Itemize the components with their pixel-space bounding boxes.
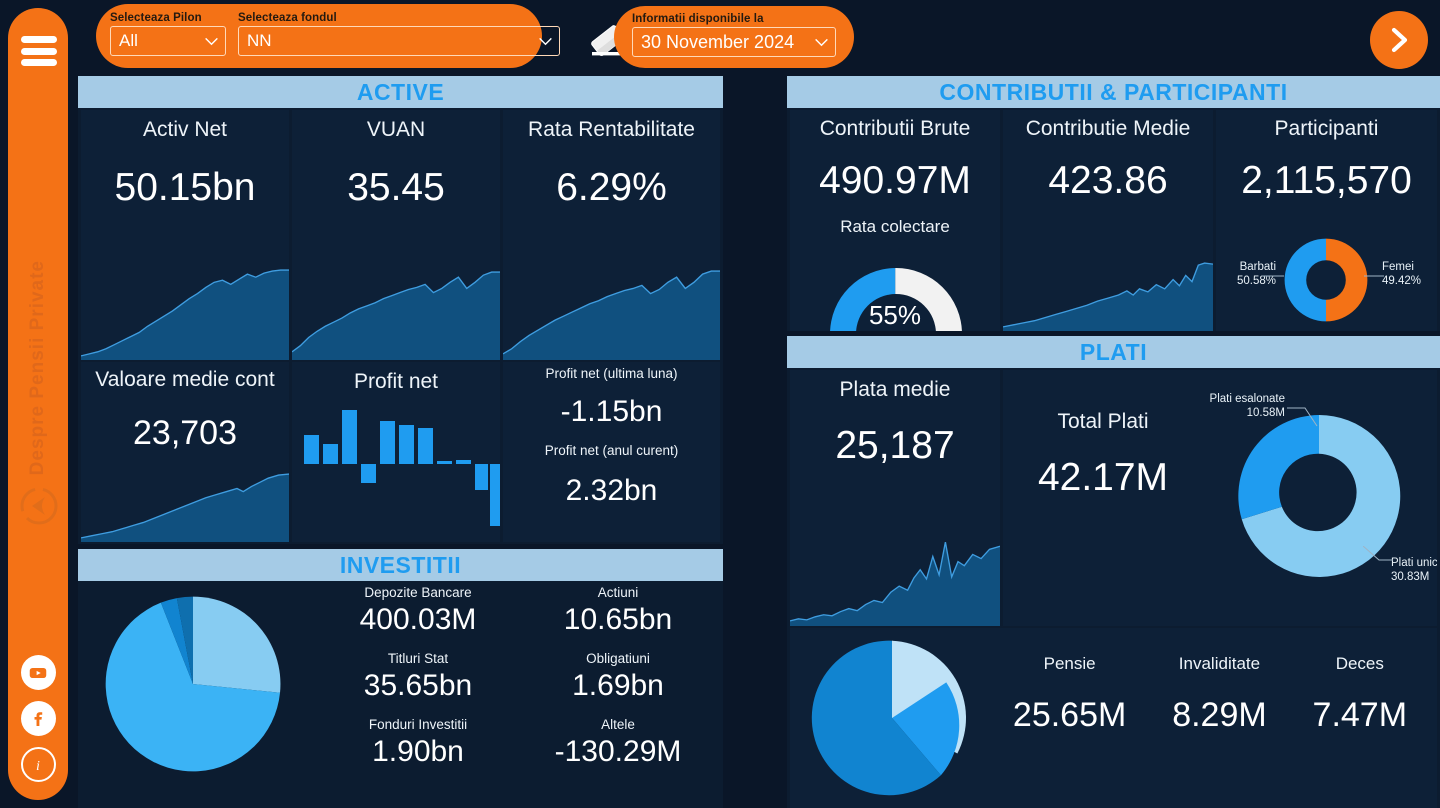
sidebar-social-links: i bbox=[8, 655, 68, 782]
plati-categorie-item[interactable]: Pensie 25.65M bbox=[1013, 654, 1126, 735]
card-valoare-medie-cont[interactable]: Valoare medie cont 23,703 bbox=[81, 362, 289, 542]
item-value: 35.65bn bbox=[318, 669, 518, 703]
profit-net-bars bbox=[292, 402, 500, 542]
item-title: Pensie bbox=[1013, 654, 1126, 674]
item-value: 8.29M bbox=[1172, 696, 1267, 735]
plati-categorii-pie bbox=[808, 632, 976, 804]
hamburger-icon[interactable] bbox=[21, 36, 57, 66]
fond-value: NN bbox=[247, 31, 538, 51]
card-contributii-brute[interactable]: Contributii Brute 490.97M Rata colectare… bbox=[790, 110, 1000, 331]
leader-line bbox=[1364, 273, 1384, 279]
info-icon[interactable]: i bbox=[21, 747, 56, 782]
panel-plati-body: Plata medie 25,187 Total Plati 42.17M Pl… bbox=[787, 368, 1440, 808]
card-vuan[interactable]: VUAN 35.45 bbox=[292, 110, 500, 360]
esalonate-label: Plati esalonate bbox=[1185, 392, 1285, 406]
investitii-item[interactable]: Altele -130.29M bbox=[518, 717, 718, 769]
investitii-values-grid: Depozite Bancare 400.03M Actiuni 10.65bn… bbox=[318, 585, 718, 769]
card-participanti[interactable]: Participanti 2,115,570 Barbati 50.58% Fe… bbox=[1216, 110, 1437, 331]
facebook-icon[interactable] bbox=[21, 701, 56, 736]
chevron-down-icon bbox=[814, 38, 829, 47]
panel-contributii: CONTRIBUTII & PARTICIPANTI Contributii B… bbox=[787, 76, 1440, 331]
female-label: Femei bbox=[1382, 260, 1421, 274]
date-value: 30 November 2024 bbox=[641, 32, 814, 53]
filter-bar-date: Informatii disponibile la 30 November 20… bbox=[614, 6, 854, 68]
panel-active-header: ACTIVE bbox=[78, 76, 723, 108]
panel-investitii: INVESTITII Depozite Bancare 400.03M Acti… bbox=[78, 549, 723, 808]
youtube-icon[interactable] bbox=[21, 655, 56, 690]
hamburger-line bbox=[21, 36, 57, 43]
plati-categorie-item[interactable]: Invaliditate 8.29M bbox=[1172, 654, 1267, 735]
gauge-value: 55% bbox=[790, 300, 1000, 331]
rata-rentabilitate-sparkline bbox=[503, 268, 720, 360]
card-plata-medie[interactable]: Plata medie 25,187 bbox=[790, 370, 1000, 626]
plati-esalonate-label: Plati esalonate 10.58M bbox=[1185, 392, 1285, 420]
item-value: 1.69bn bbox=[518, 669, 718, 703]
card-title: Profit net (ultima luna) bbox=[503, 366, 720, 381]
contributie-medie-sparkline bbox=[1003, 259, 1213, 331]
panel-contributii-title: CONTRIBUTII & PARTICIPANTI bbox=[939, 79, 1287, 106]
investitii-item[interactable]: Obligatiuni 1.69bn bbox=[518, 651, 718, 703]
card-value: -1.15bn bbox=[503, 395, 720, 429]
card-profit-net-detalii[interactable]: Profit net (ultima luna) -1.15bn Profit … bbox=[503, 362, 720, 542]
male-label: Barbati bbox=[1218, 260, 1276, 274]
panel-investitii-title: INVESTITII bbox=[340, 552, 461, 579]
panel-plati-header: PLATI bbox=[787, 336, 1440, 368]
svg-text:i: i bbox=[36, 758, 40, 774]
card-value: 23,703 bbox=[81, 414, 289, 453]
panel-plati-title: PLATI bbox=[1080, 339, 1147, 366]
investitii-item[interactable]: Titluri Stat 35.65bn bbox=[318, 651, 518, 703]
panel-contributii-header: CONTRIBUTII & PARTICIPANTI bbox=[787, 76, 1440, 108]
chevron-down-icon bbox=[538, 37, 553, 46]
card-title: Valoare medie cont bbox=[81, 368, 289, 392]
date-filter: Informatii disponibile la 30 November 20… bbox=[632, 13, 836, 57]
leader-line bbox=[1363, 546, 1393, 566]
item-title: Depozite Bancare bbox=[318, 585, 518, 600]
item-value: 10.65bn bbox=[518, 603, 718, 637]
card-value: 25,187 bbox=[790, 424, 1000, 468]
gauge-title: Rata colectare bbox=[790, 217, 1000, 237]
card-title: Profit net bbox=[292, 370, 500, 394]
card-value: 423.86 bbox=[1003, 159, 1213, 203]
card-title: Activ Net bbox=[81, 118, 289, 142]
card-title: Participanti bbox=[1216, 117, 1437, 141]
card-value: 42.17M bbox=[1003, 456, 1203, 500]
panel-active-body: Activ Net 50.15bn VUAN 35.45 Rata Rentab… bbox=[78, 108, 723, 544]
leader-line bbox=[1262, 273, 1284, 279]
card-profit-net[interactable]: Profit net bbox=[292, 362, 500, 542]
vuan-sparkline bbox=[292, 268, 500, 360]
card-total-plati[interactable]: Total Plati 42.17M Plati esalonate 10.58… bbox=[1003, 370, 1437, 626]
sidebar-vertical-text: Despre Pensii Private bbox=[27, 260, 49, 475]
card-title: VUAN bbox=[292, 118, 500, 142]
investitii-item[interactable]: Depozite Bancare 400.03M bbox=[318, 585, 518, 637]
card-title: Profit net (anul curent) bbox=[503, 443, 720, 458]
item-value: -130.29M bbox=[518, 735, 718, 769]
card-value: 35.45 bbox=[292, 166, 500, 210]
fond-filter: Selecteaza fondul NN bbox=[238, 12, 560, 56]
plati-categorie-item[interactable]: Deces 7.47M bbox=[1313, 654, 1408, 735]
card-value: 50.15bn bbox=[81, 166, 289, 210]
item-title: Obligatiuni bbox=[518, 651, 718, 666]
panel-investitii-body: Depozite Bancare 400.03M Actiuni 10.65bn… bbox=[78, 581, 723, 808]
item-value: 25.65M bbox=[1013, 696, 1126, 735]
panel-active: ACTIVE Activ Net 50.15bn VUAN 35.45 bbox=[78, 76, 723, 544]
leader-line bbox=[1287, 406, 1319, 428]
participanti-gender-donut bbox=[1281, 235, 1371, 325]
hamburger-line bbox=[21, 59, 57, 66]
activ-net-sparkline bbox=[81, 268, 289, 360]
panel-active-title: ACTIVE bbox=[357, 79, 444, 106]
card-title: Contributie Medie bbox=[1003, 117, 1213, 141]
asf-logo-icon bbox=[19, 486, 59, 526]
plata-medie-sparkline bbox=[790, 534, 1000, 626]
dashboard-root: Despre Pensii Private i bbox=[0, 0, 1440, 808]
item-title: Fonduri Investitii bbox=[318, 717, 518, 732]
valoare-medie-cont-sparkline bbox=[81, 472, 289, 542]
fond-label: Selecteaza fondul bbox=[238, 12, 560, 24]
plati-categorii-values: Pensie 25.65M Invaliditate 8.29M Deces 7… bbox=[990, 654, 1430, 735]
item-title: Deces bbox=[1313, 654, 1408, 674]
date-select[interactable]: 30 November 2024 bbox=[632, 27, 836, 57]
card-title: Contributii Brute bbox=[790, 117, 1000, 141]
filter-bar-left: Selecteaza Pilon All Selecteaza fondul N… bbox=[96, 4, 542, 68]
card-title: Plata medie bbox=[790, 378, 1000, 402]
chevron-down-icon bbox=[204, 37, 219, 46]
gender-female-label: Femei 49.42% bbox=[1382, 260, 1421, 288]
investitii-pie bbox=[98, 589, 288, 779]
pilon-label: Selecteaza Pilon bbox=[110, 12, 226, 24]
next-page-button[interactable] bbox=[1370, 11, 1428, 69]
investitii-item[interactable]: Actiuni 10.65bn bbox=[518, 585, 718, 637]
investitii-item[interactable]: Fonduri Investitii 1.90bn bbox=[318, 717, 518, 769]
pilon-filter: Selecteaza Pilon All bbox=[110, 12, 226, 56]
panel-investitii-header: INVESTITII bbox=[78, 549, 723, 581]
fond-select[interactable]: NN bbox=[238, 26, 560, 56]
card-title: Rata Rentabilitate bbox=[503, 118, 720, 142]
date-label: Informatii disponibile la bbox=[632, 13, 836, 25]
panel-plati: PLATI Plata medie 25,187 Total Plati 42.… bbox=[787, 336, 1440, 808]
card-contributie-medie[interactable]: Contributie Medie 423.86 bbox=[1003, 110, 1213, 331]
item-title: Titluri Stat bbox=[318, 651, 518, 666]
plati-unice-label: Plati unice 30.83M bbox=[1391, 556, 1437, 584]
item-value: 7.47M bbox=[1313, 696, 1408, 735]
card-title: Total Plati bbox=[1003, 410, 1203, 434]
card-rata-rentabilitate[interactable]: Rata Rentabilitate 6.29% bbox=[503, 110, 720, 360]
unice-value: 30.83M bbox=[1391, 570, 1437, 584]
left-sidebar: Despre Pensii Private i bbox=[8, 8, 68, 800]
item-title: Actiuni bbox=[518, 585, 718, 600]
panel-contributii-body: Contributii Brute 490.97M Rata colectare… bbox=[787, 108, 1440, 331]
item-value: 400.03M bbox=[318, 603, 518, 637]
card-activ-net[interactable]: Activ Net 50.15bn bbox=[81, 110, 289, 360]
pilon-value: All bbox=[119, 31, 204, 51]
item-title: Invaliditate bbox=[1172, 654, 1267, 674]
item-value: 1.90bn bbox=[318, 735, 518, 769]
chevron-right-icon bbox=[1384, 25, 1414, 55]
card-plati-categorii[interactable]: Pensie 25.65M Invaliditate 8.29M Deces 7… bbox=[790, 628, 1437, 808]
unice-label: Plati unice bbox=[1391, 556, 1437, 570]
item-title: Altele bbox=[518, 717, 718, 732]
pilon-select[interactable]: All bbox=[110, 26, 226, 56]
esalonate-value: 10.58M bbox=[1185, 406, 1285, 420]
hamburger-line bbox=[21, 48, 57, 55]
female-value: 49.42% bbox=[1382, 274, 1421, 288]
card-value: 2,115,570 bbox=[1216, 159, 1437, 203]
card-value: 2.32bn bbox=[503, 474, 720, 508]
card-value: 490.97M bbox=[790, 159, 1000, 203]
card-value: 6.29% bbox=[503, 166, 720, 210]
